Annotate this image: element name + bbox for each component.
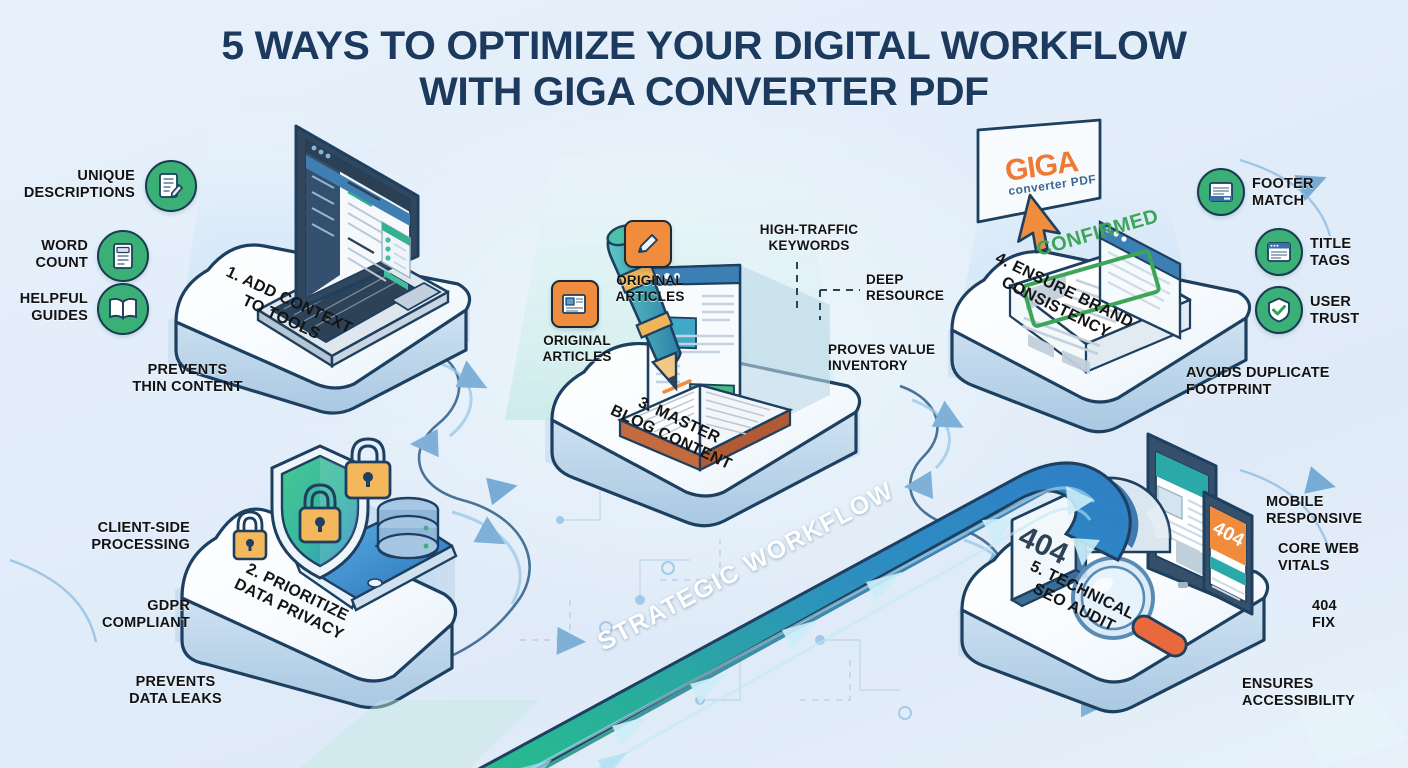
label-high-traffic-keywords: HIGH-TRAFFIC KEYWORDS <box>748 222 870 254</box>
open-book-icon <box>108 297 138 321</box>
label-helpful-guides: HELPFUL GUIDES <box>10 291 88 325</box>
label-user-trust: USER TRUST <box>1310 294 1400 328</box>
label-avoids-duplicate-footprint: AVOIDS DUPLICATE FOOTPRINT <box>1186 365 1376 399</box>
label-title-tags: TITLE TAGS <box>1310 236 1400 270</box>
label-core-web-vitals: CORE WEB VITALS <box>1278 541 1408 575</box>
label-original-articles-1: ORIGINAL ARTICLES <box>522 333 632 365</box>
label-prevents-thin-content: PREVENTS THIN CONTENT <box>95 362 280 396</box>
label-404-fix: 404 FIX <box>1312 598 1382 632</box>
badge-unique-descriptions[interactable] <box>145 160 197 212</box>
label-ensures-accessibility: ENSURES ACCESSIBILITY <box>1242 676 1408 710</box>
badge-footer-match[interactable] <box>1197 168 1245 216</box>
pencil-icon <box>635 231 661 257</box>
badge-word-count[interactable] <box>97 230 149 282</box>
label-deep-resource: DEEP RESOURCE <box>866 272 964 304</box>
badge-original-articles-news[interactable] <box>551 280 599 328</box>
badge-original-articles-pencil[interactable] <box>624 220 672 268</box>
infographic-canvas: 5 WAYS TO OPTIMIZE YOUR DIGITAL WORKFLOW… <box>0 0 1408 768</box>
label-prevents-data-leaks: PREVENTS DATA LEAKS <box>88 674 263 708</box>
label-word-count: WORD COUNT <box>10 238 88 272</box>
label-proves-value-inventory: PROVES VALUE INVENTORY <box>828 342 974 374</box>
label-footer-match: FOOTER MATCH <box>1252 176 1372 210</box>
document-pencil-icon <box>158 172 184 200</box>
label-original-articles-2: ORIGINAL ARTICLES <box>595 273 705 305</box>
label-mobile-responsive: MOBILE RESPONSIVE <box>1266 494 1406 528</box>
label-gdpr-compliant: GDPR COMPLIANT <box>50 598 190 632</box>
newspaper-icon <box>561 292 589 316</box>
badge-user-trust[interactable] <box>1255 286 1303 334</box>
shield-check-icon <box>1267 297 1291 323</box>
label-unique-descriptions: UNIQUE DESCRIPTIONS <box>20 168 135 202</box>
badge-title-tags[interactable] <box>1255 228 1303 276</box>
document-count-icon <box>110 242 136 270</box>
badge-helpful-guides[interactable] <box>97 283 149 335</box>
browser-window-icon <box>1266 241 1292 263</box>
label-client-side-processing: CLIENT-SIDE PROCESSING <box>30 520 190 554</box>
footer-window-icon <box>1208 181 1234 203</box>
